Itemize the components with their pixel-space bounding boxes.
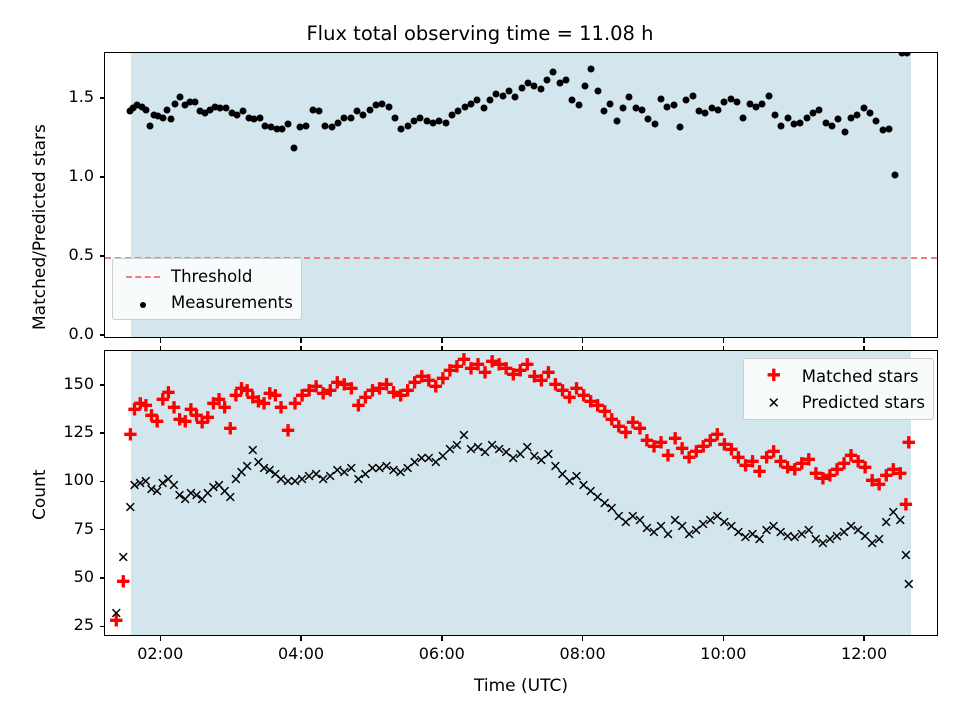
measurement-point — [315, 108, 322, 115]
measurement-point — [284, 121, 291, 128]
y-tick-mark — [100, 176, 105, 178]
measurement-point — [886, 125, 893, 132]
measurement-point — [734, 98, 741, 105]
measurement-point — [803, 114, 810, 121]
measurement-point — [873, 117, 880, 124]
measurement-point — [613, 117, 620, 124]
legend-label: Threshold — [165, 267, 252, 286]
x-marker-icon: ✕ — [752, 393, 796, 412]
measurement-point — [404, 122, 411, 129]
measurement-point — [683, 97, 690, 104]
x-tick-mark — [300, 346, 302, 351]
y-tick-mark — [100, 334, 105, 336]
y-tick-label: 0.5 — [69, 245, 94, 264]
x-tick-mark — [160, 346, 162, 351]
measurement-point — [562, 76, 569, 83]
measurement-point — [303, 122, 310, 129]
dashed-line-icon — [121, 267, 165, 286]
y-tick-label: 0.0 — [69, 324, 94, 343]
measurement-point — [385, 103, 392, 110]
legend-label: Predicted stars — [796, 393, 925, 412]
measurement-point — [588, 65, 595, 72]
x-tick-label: 08:00 — [543, 644, 623, 663]
x-tick-mark — [441, 338, 443, 343]
matched-star-point: ✚ — [281, 424, 295, 441]
measurement-point — [619, 105, 626, 112]
measurement-point — [347, 114, 354, 121]
predicted-star-point: ✕ — [900, 548, 913, 563]
legend-entry: ✚Matched stars — [752, 363, 925, 389]
y-tick-mark — [100, 626, 105, 628]
predicted-star-point: ✕ — [124, 500, 137, 515]
measurement-point — [256, 114, 263, 121]
y-tick-label: 1.0 — [69, 166, 94, 185]
matched-star-point: ✚ — [223, 422, 237, 439]
legend-entry: ✕Predicted stars — [752, 389, 925, 415]
measurement-point — [366, 106, 373, 113]
measurement-point — [172, 100, 179, 107]
matched-star-point: ✚ — [661, 449, 675, 466]
measurement-point — [550, 68, 557, 75]
x-tick-mark — [441, 636, 443, 641]
x-tick-mark — [723, 338, 725, 343]
measurement-point — [328, 124, 335, 131]
measurement-point — [765, 92, 772, 99]
measurement-point — [147, 122, 154, 129]
y-tick-mark — [100, 255, 105, 257]
matched-star-point: ✚ — [893, 466, 907, 483]
measurement-point — [163, 106, 170, 113]
legend-label: Matched stars — [796, 367, 919, 386]
legend-entry: Threshold — [121, 263, 293, 289]
y-tick-label: 125 — [63, 422, 94, 441]
x-tick-mark — [300, 636, 302, 641]
dot-marker-icon — [121, 293, 165, 312]
y-tick-mark — [100, 529, 105, 531]
measurement-point — [600, 108, 607, 115]
x-tick-mark — [863, 338, 865, 343]
y-tick-label: 150 — [63, 374, 94, 393]
measurement-point — [290, 144, 297, 151]
measurement-point — [543, 76, 550, 83]
plus-marker-icon: ✚ — [752, 366, 796, 386]
measurement-point — [142, 106, 149, 113]
measurement-point — [177, 94, 184, 101]
y-tick-label: 25 — [74, 615, 94, 634]
measurement-point — [192, 98, 199, 105]
measurement-point — [835, 116, 842, 123]
measurement-point — [334, 119, 341, 126]
measurement-point — [168, 116, 175, 123]
x-tick-mark — [863, 636, 865, 641]
count-panel-legend: ✚Matched stars✕Predicted stars — [743, 358, 934, 420]
measurement-point — [239, 108, 246, 115]
figure-title: Flux total observing time = 11.08 h — [0, 22, 960, 45]
measurement-point — [829, 122, 836, 129]
measurement-point — [658, 95, 665, 102]
measurement-point — [677, 124, 684, 131]
x-tick-label: 04:00 — [261, 644, 341, 663]
x-tick-label: 02:00 — [120, 644, 200, 663]
measurement-point — [159, 114, 166, 121]
measurement-point — [715, 106, 722, 113]
x-tick-mark — [723, 636, 725, 641]
measurement-point — [575, 102, 582, 109]
predicted-star-point: ✕ — [224, 490, 237, 505]
y-tick-label: 75 — [74, 519, 94, 538]
x-tick-mark — [582, 636, 584, 641]
measurement-point — [854, 111, 861, 118]
measurement-point — [607, 100, 614, 107]
matched-star-point: ✚ — [116, 574, 130, 591]
measurement-point — [442, 119, 449, 126]
measurement-point — [537, 86, 544, 93]
legend-entry: Measurements — [121, 289, 293, 315]
measurement-point — [581, 83, 588, 90]
predicted-star-point: ✕ — [873, 533, 886, 548]
matched-star-point: ✚ — [274, 400, 288, 417]
measurement-point — [689, 92, 696, 99]
predicted-star-point: ✕ — [110, 606, 123, 621]
legend-label: Measurements — [165, 293, 293, 312]
y-tick-label: 1.5 — [69, 87, 94, 106]
measurement-point — [512, 94, 519, 101]
measurement-point — [474, 97, 481, 104]
measurement-point — [391, 114, 398, 121]
x-tick-mark — [863, 346, 865, 351]
matched-star-point: ✚ — [150, 414, 164, 431]
x-tick-mark — [441, 346, 443, 351]
x-tick-label: 12:00 — [824, 644, 904, 663]
ratio-panel-legend: ThresholdMeasurements — [112, 258, 302, 320]
measurement-point — [816, 106, 823, 113]
x-tick-mark — [300, 338, 302, 343]
predicted-star-point: ✕ — [894, 514, 907, 529]
measurement-point — [360, 111, 367, 118]
x-tick-label: 10:00 — [683, 644, 763, 663]
y-tick-mark — [100, 432, 105, 434]
matched-star-point: ✚ — [902, 435, 916, 452]
x-tick-label: 06:00 — [402, 644, 482, 663]
top-panel-ylabel: Matched/Predicted stars — [30, 124, 50, 330]
x-axis-label: Time (UTC) — [104, 676, 938, 696]
y-tick-mark — [100, 577, 105, 579]
measurement-point — [626, 94, 633, 101]
measurement-point — [518, 84, 525, 91]
x-tick-mark — [582, 338, 584, 343]
measurement-point — [759, 100, 766, 107]
y-tick-label: 50 — [74, 567, 94, 586]
figure-canvas: Flux total observing time = 11.08 h Matc… — [0, 0, 960, 720]
matched-star-point: ✚ — [123, 428, 137, 445]
y-tick-label: 100 — [63, 470, 94, 489]
measurement-point — [778, 122, 785, 129]
measurement-point — [486, 97, 493, 104]
predicted-star-point: ✕ — [902, 577, 915, 592]
predicted-star-point: ✕ — [117, 550, 130, 565]
x-tick-mark — [160, 636, 162, 641]
measurement-point — [867, 110, 874, 117]
measurement-point — [455, 108, 462, 115]
bottom-panel-ylabel: Count — [30, 470, 50, 521]
measurement-point — [740, 114, 747, 121]
x-tick-mark — [582, 346, 584, 351]
measurement-point — [841, 129, 848, 136]
y-tick-mark — [100, 384, 105, 386]
measurement-point — [480, 105, 487, 112]
measurement-point — [638, 106, 645, 113]
measurement-point — [892, 171, 899, 178]
measurement-point — [670, 102, 677, 109]
measurement-point — [651, 121, 658, 128]
y-tick-mark — [100, 97, 105, 99]
x-tick-mark — [723, 346, 725, 351]
y-tick-mark — [100, 481, 105, 483]
measurement-point — [797, 119, 804, 126]
x-tick-mark — [160, 338, 162, 343]
measurement-point — [772, 111, 779, 118]
measurement-point — [499, 92, 506, 99]
measurement-point — [594, 87, 601, 94]
measurement-point — [784, 114, 791, 121]
measurement-point — [505, 87, 512, 94]
measurement-point — [702, 110, 709, 117]
